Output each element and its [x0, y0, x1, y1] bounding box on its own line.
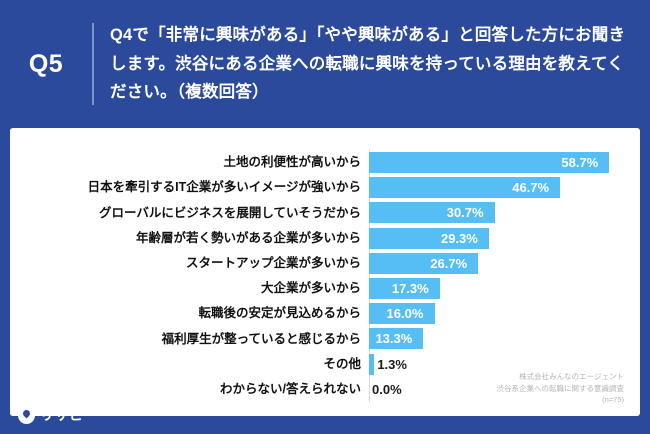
- bar-track: 58.7%: [369, 152, 629, 173]
- header: Q5 Q4で「非常に興味がある」「やや興味がある」と回答した方にお聞きします。渋…: [0, 0, 650, 128]
- pin-icon: [18, 407, 35, 424]
- chart-row: グローバルにビジネスを展開していそうだから30.7%: [24, 202, 629, 223]
- bar-value-label: 16.0%: [387, 303, 424, 324]
- bar-value-label: 46.7%: [512, 177, 549, 198]
- category-label: グローバルにビジネスを展開していそうだから: [24, 207, 369, 220]
- header-divider: [92, 23, 94, 105]
- chart-row: 大企業が多いから17.3%: [24, 278, 629, 299]
- chart-row: スタートアップ企業が多いから26.7%: [24, 253, 629, 274]
- question-text: Q4で「非常に興味がある」「やや興味がある」と回答した方にお聞きします。渋谷にあ…: [110, 21, 650, 106]
- category-label: 年齢層が若く勢いがある企業が多いから: [24, 232, 369, 245]
- bar-value-label: 30.7%: [447, 202, 484, 223]
- bar-value-label: 0.0%: [372, 379, 402, 400]
- brand-name: リサピー: [40, 405, 98, 425]
- chart-card: 土地の利便性が高いから58.7%日本を牽引するIT企業が多いイメージが強いから4…: [10, 128, 640, 416]
- category-label: その他: [24, 358, 369, 371]
- chart-row: 土地の利便性が高いから58.7%: [24, 152, 629, 173]
- sample-size: (n=75): [497, 394, 625, 406]
- bar-value-label: 17.3%: [392, 278, 429, 299]
- bar-value-label: 1.3%: [377, 354, 407, 375]
- category-label: わからない/答えられない: [24, 383, 369, 396]
- bar-track: 26.7%: [369, 253, 629, 274]
- source-note: 株式会社みんなのエージェント 渋谷系企業への転職に関する意識調査 (n=75): [497, 371, 625, 406]
- bar-track: 13.3%: [369, 328, 629, 349]
- bar-value-label: 26.7%: [430, 253, 467, 274]
- bar-track: 16.0%: [369, 303, 629, 324]
- bar: [369, 354, 374, 375]
- bar-track: 29.3%: [369, 228, 629, 249]
- bar-track: 17.3%: [369, 278, 629, 299]
- category-label: スタートアップ企業が多いから: [24, 257, 369, 270]
- category-label: 福利厚生が整っていると感じるから: [24, 333, 369, 346]
- chart-row: 転職後の安定が見込めるから16.0%: [24, 303, 629, 324]
- bar-track: 46.7%: [369, 177, 629, 198]
- source-survey: 渋谷系企業への転職に関する意識調査: [497, 383, 625, 395]
- source-company: 株式会社みんなのエージェント: [497, 371, 625, 383]
- brand-logo: リサピー: [18, 405, 98, 425]
- chart-row: 年齢層が若く勢いがある企業が多いから29.3%: [24, 228, 629, 249]
- bar-value-label: 58.7%: [561, 152, 598, 173]
- question-number: Q5: [0, 50, 92, 79]
- category-label: 土地の利便性が高いから: [24, 156, 369, 169]
- category-label: 日本を牽引するIT企業が多いイメージが強いから: [24, 181, 369, 194]
- category-label: 大企業が多いから: [24, 282, 369, 295]
- chart-row: 福利厚生が整っていると感じるから13.3%: [24, 328, 629, 349]
- chart-row: 日本を牽引するIT企業が多いイメージが強いから46.7%: [24, 177, 629, 198]
- bar-track: 30.7%: [369, 202, 629, 223]
- bar-value-label: 13.3%: [375, 328, 412, 349]
- slide: Q5 Q4で「非常に興味がある」「やや興味がある」と回答した方にお聞きします。渋…: [0, 0, 650, 434]
- category-label: 転職後の安定が見込めるから: [24, 307, 369, 320]
- bar-value-label: 29.3%: [441, 228, 478, 249]
